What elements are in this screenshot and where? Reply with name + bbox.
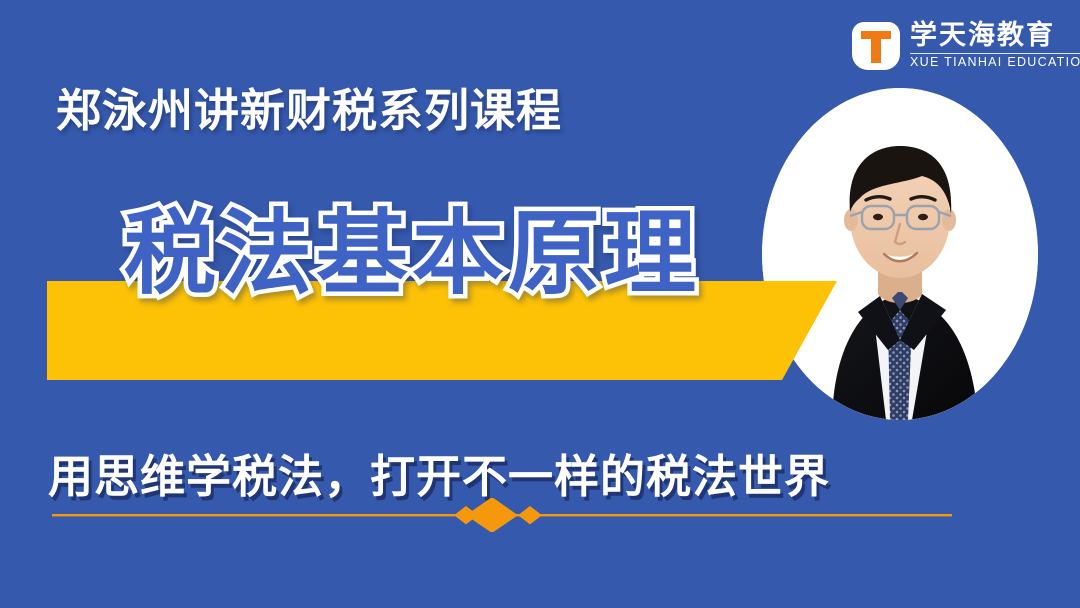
course-title: 税法基本原理 <box>124 202 700 305</box>
course-tagline: 用思维学税法，打开不一样的税法世界 <box>48 440 830 505</box>
logo-t-stem <box>871 31 881 63</box>
course-series-label: 郑泳州讲新财税系列课程 <box>56 74 562 139</box>
divider-diamond-right <box>518 506 542 524</box>
course-banner: 学天海教育 XUE TIANHAI EDUCATION <box>0 0 1080 608</box>
brand-logo: 学天海教育 XUE TIANHAI EDUCATION <box>852 16 1068 76</box>
logo-name-en: XUE TIANHAI EDUCATION <box>910 56 1080 70</box>
logo-t-mark-icon <box>852 22 900 70</box>
logo-text-block: 学天海教育 XUE TIANHAI EDUCATION <box>910 22 1080 70</box>
divider-diamond-center <box>466 498 518 532</box>
logo-divider-rule <box>910 53 1080 54</box>
logo-name-cn: 学天海教育 <box>910 22 1080 50</box>
decorative-divider <box>52 498 952 532</box>
